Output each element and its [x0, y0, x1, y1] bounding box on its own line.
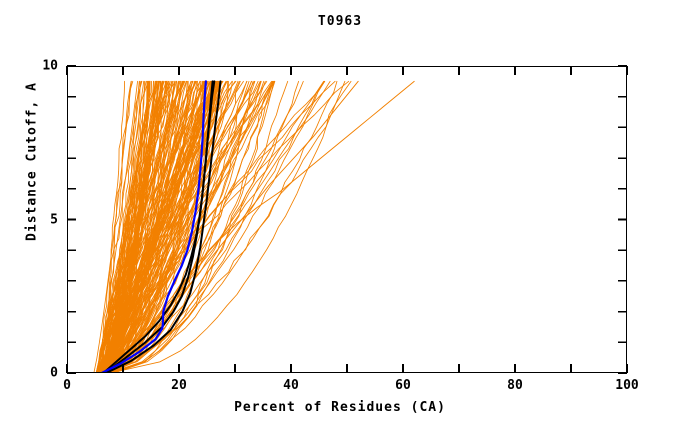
y-tick-label: 0: [30, 366, 58, 381]
chart-root: T0963 Percent of Residues (CA) Distance …: [0, 0, 680, 440]
y-axis-label: Distance Cutoff, A: [25, 52, 40, 272]
x-axis-label: Percent of Residues (CA): [0, 400, 680, 415]
y-tick-label: 10: [30, 59, 58, 74]
x-tick-label: 0: [63, 378, 71, 393]
axis-ticks-layer: [67, 66, 627, 373]
x-tick-label: 40: [283, 378, 299, 393]
plot-area: [67, 66, 627, 373]
y-tick-label: 5: [30, 212, 58, 227]
x-tick-label: 60: [395, 378, 411, 393]
x-tick-label: 100: [615, 378, 638, 393]
page-title: T0963: [0, 14, 680, 29]
x-tick-label: 80: [507, 378, 523, 393]
x-tick-label: 20: [171, 378, 187, 393]
